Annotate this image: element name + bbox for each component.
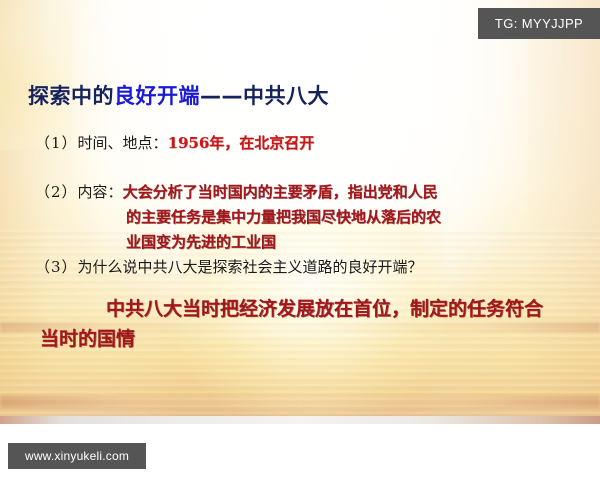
slide-title-highlight: 良好开端 [114, 84, 200, 108]
bullet-item-1: （1）时间、地点：1956年，在北京召开 [35, 132, 314, 153]
answer-text: 中共八大当时把经济发展放在首位，制定的任务符合当时的国情 [40, 294, 560, 354]
telegram-watermark-label: TG: MYYJJPP [495, 16, 583, 31]
bullet-3-number: （3） [35, 258, 78, 276]
slide-title-part2: ——中共八大 [200, 84, 329, 108]
slide-title: 探索中的良好开端——中共八大 [28, 80, 329, 110]
bullet-2-label: 内容： [78, 183, 123, 201]
bullet-item-3: （3）为什么说中共八大是探索社会主义道路的良好开端？ [35, 256, 423, 277]
slide-content: 探索中的良好开端——中共八大 （1）时间、地点：1956年，在北京召开 （2）内… [0, 0, 600, 424]
slide-title-part1: 探索中的 [28, 84, 114, 108]
website-watermark-label: www.xinyukeli.com [25, 449, 129, 463]
bullet-2-value-line1: 大会分析了当时国内的主要矛盾，指出党和人民 [123, 183, 438, 201]
bullet-2-value-line3: 业国变为先进的工业国 [126, 231, 276, 252]
telegram-watermark-badge: TG: MYYJJPP [478, 8, 600, 39]
bullet-1-value: 1956年，在北京召开 [168, 134, 315, 152]
bullet-1-label: 时间、地点： [78, 134, 168, 152]
website-watermark-badge: www.xinyukeli.com [8, 443, 146, 469]
bullet-2-value-line2: 的主要任务是集中力量把我国尽快地从落后的农 [126, 206, 441, 227]
bullet-2-number: （2） [35, 183, 78, 201]
presentation-slide: 探索中的良好开端——中共八大 （1）时间、地点：1956年，在北京召开 （2）内… [0, 0, 600, 424]
bullet-item-2: （2）内容：大会分析了当时国内的主要矛盾，指出党和人民 [35, 181, 438, 202]
bullet-1-number: （1） [35, 134, 78, 152]
bullet-3-label: 为什么说中共八大是探索社会主义道路的良好开端？ [78, 258, 423, 276]
